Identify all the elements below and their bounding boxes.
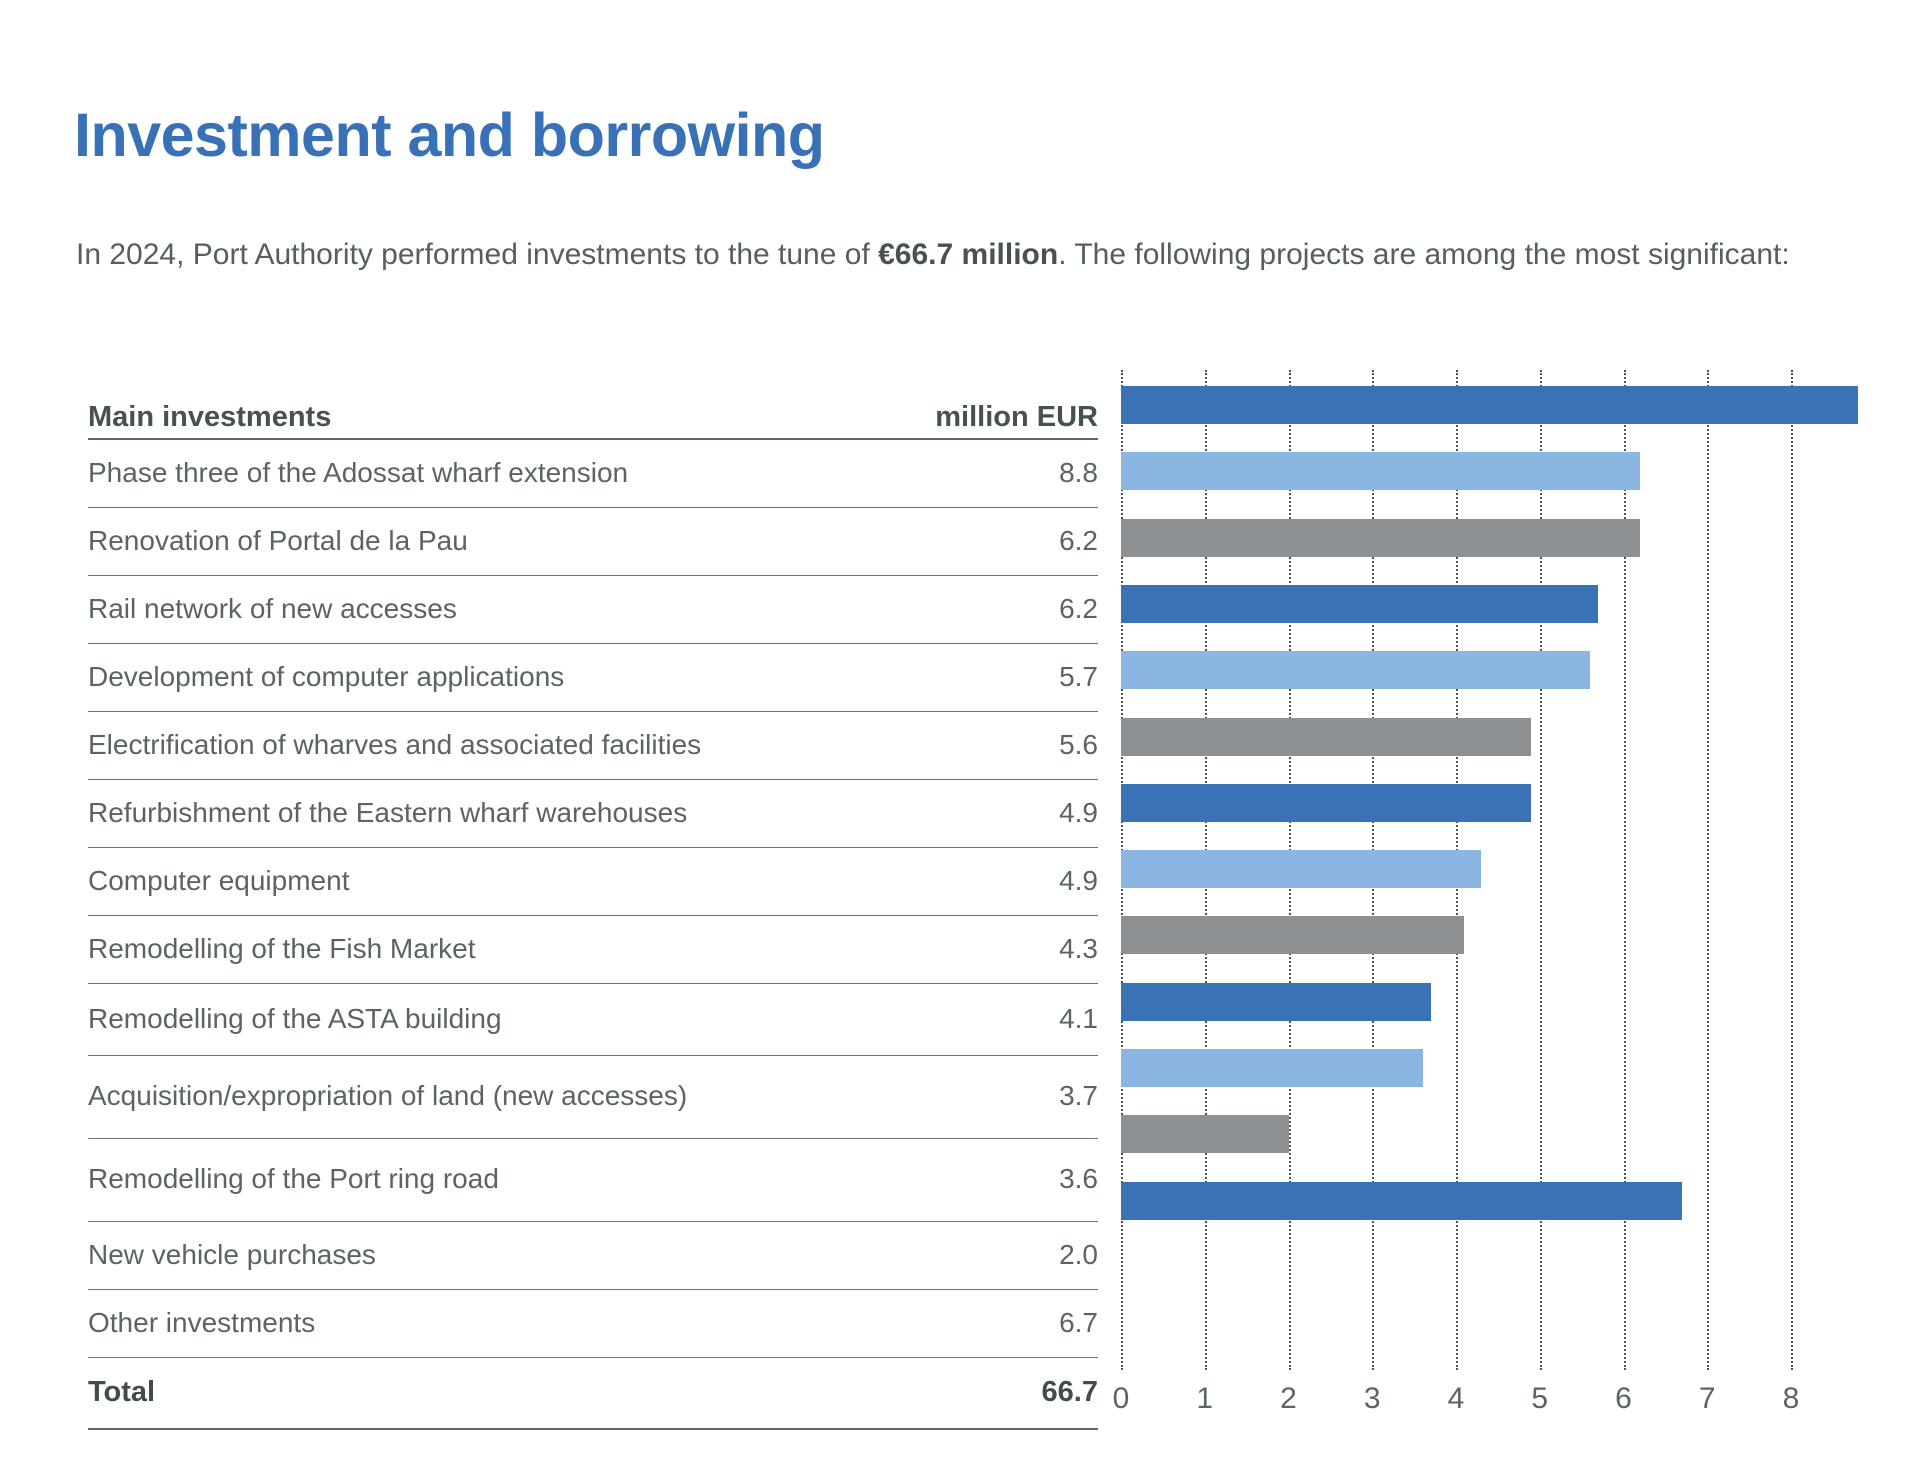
chart-bar — [1121, 916, 1464, 954]
intro-text-after: . The following projects are among the m… — [1058, 238, 1789, 271]
table-row-value: 6.2 — [1059, 525, 1098, 557]
chart-bar — [1121, 784, 1531, 822]
table-row-value: 4.1 — [1059, 1003, 1098, 1035]
table-row: Computer equipment4.9 — [88, 848, 1098, 916]
table-row-label: Refurbishment of the Eastern wharf wareh… — [88, 797, 687, 829]
chart-x-tick-label: 2 — [1280, 1382, 1297, 1416]
chart-bar — [1121, 718, 1531, 756]
chart-bar — [1121, 1182, 1682, 1220]
table-header-million-eur: million EUR — [935, 401, 1098, 434]
chart-bar — [1121, 850, 1481, 888]
intro-emphasis-amount: €66.7 million — [878, 238, 1058, 271]
table-row: Phase three of the Adossat wharf extensi… — [88, 440, 1098, 508]
table-total-row: Total66.7 — [88, 1358, 1098, 1430]
table-row-label: Acquisition/expropriation of land (new a… — [88, 1080, 687, 1112]
chart-x-tick-label: 4 — [1448, 1382, 1465, 1416]
table-row-value: 4.9 — [1059, 865, 1098, 897]
table-row-value: 4.3 — [1059, 933, 1098, 965]
table-row: Remodelling of the Fish Market4.3 — [88, 916, 1098, 984]
page-title: Investment and borrowing — [74, 103, 825, 167]
table-row: Remodelling of the ASTA building4.1 — [88, 984, 1098, 1056]
table-row: Electrification of wharves and associate… — [88, 712, 1098, 780]
table-row: Acquisition/expropriation of land (new a… — [88, 1056, 1098, 1139]
chart-gridline — [1707, 370, 1709, 1370]
table-row-label: Rail network of new accesses — [88, 593, 457, 625]
chart-bar — [1121, 386, 1858, 424]
table-row: Other investments6.7 — [88, 1290, 1098, 1358]
chart-x-tick-label: 3 — [1364, 1382, 1381, 1416]
table-total-value: 66.7 — [1042, 1376, 1098, 1409]
chart-bar — [1121, 452, 1640, 490]
chart-bar — [1121, 1049, 1423, 1087]
chart-x-tick-label: 8 — [1783, 1382, 1800, 1416]
table-row-value: 3.7 — [1059, 1080, 1098, 1112]
chart-x-tick-label: 6 — [1615, 1382, 1632, 1416]
table-row: Development of computer applications5.7 — [88, 644, 1098, 712]
table-row-label: Development of computer applications — [88, 661, 564, 693]
chart-x-tick-label: 1 — [1196, 1382, 1213, 1416]
table-row-label: Remodelling of the ASTA building — [88, 1003, 502, 1035]
table-row-label: Electrification of wharves and associate… — [88, 729, 701, 761]
table-row-label: Computer equipment — [88, 865, 349, 897]
intro-paragraph: In 2024, Port Authority performed invest… — [76, 234, 1836, 277]
table-header-row: Main investments million EUR — [88, 392, 1098, 440]
table-row-value: 5.7 — [1059, 661, 1098, 693]
table-row: Remodelling of the Port ring road3.6 — [88, 1139, 1098, 1222]
table-row: New vehicle purchases2.0 — [88, 1222, 1098, 1290]
chart-x-tick-label: 0 — [1113, 1382, 1130, 1416]
chart-bar — [1121, 983, 1431, 1021]
table-row-label: Phase three of the Adossat wharf extensi… — [88, 457, 628, 489]
chart-bar — [1121, 651, 1590, 689]
chart-bar — [1121, 1115, 1289, 1153]
chart-bar — [1121, 585, 1598, 623]
chart-bar — [1121, 519, 1640, 557]
chart-x-tick-label: 7 — [1699, 1382, 1716, 1416]
table-row-label: Renovation of Portal de la Pau — [88, 525, 468, 557]
table-body: Phase three of the Adossat wharf extensi… — [88, 440, 1098, 1430]
chart-gridline — [1791, 370, 1793, 1370]
table-row-value: 8.8 — [1059, 457, 1098, 489]
table-row: Renovation of Portal de la Pau6.2 — [88, 508, 1098, 576]
table-row-value: 5.6 — [1059, 729, 1098, 761]
table-header-main-investments: Main investments — [88, 401, 331, 434]
chart-x-axis: 012345678 — [1121, 1382, 1821, 1422]
page-content: Investment and borrowing In 2024, Port A… — [0, 0, 1932, 1476]
chart-x-tick-label: 5 — [1531, 1382, 1548, 1416]
intro-text-before: In 2024, Port Authority performed invest… — [76, 238, 878, 271]
table-total-label: Total — [88, 1376, 155, 1409]
table-row-label: Other investments — [88, 1307, 315, 1339]
investments-table: Main investments million EUR Phase three… — [88, 392, 1098, 1430]
table-row-label: Remodelling of the Port ring road — [88, 1163, 499, 1195]
table-row-value: 4.9 — [1059, 797, 1098, 829]
table-row-label: New vehicle purchases — [88, 1239, 376, 1271]
table-row: Rail network of new accesses6.2 — [88, 576, 1098, 644]
investments-bar-chart — [1121, 370, 1821, 1370]
table-row: Refurbishment of the Eastern wharf wareh… — [88, 780, 1098, 848]
table-row-value: 2.0 — [1059, 1239, 1098, 1271]
table-row-label: Remodelling of the Fish Market — [88, 933, 476, 965]
table-row-value: 6.7 — [1059, 1307, 1098, 1339]
table-row-value: 6.2 — [1059, 593, 1098, 625]
chart-plot-area — [1121, 370, 1821, 1370]
table-row-value: 3.6 — [1059, 1163, 1098, 1195]
